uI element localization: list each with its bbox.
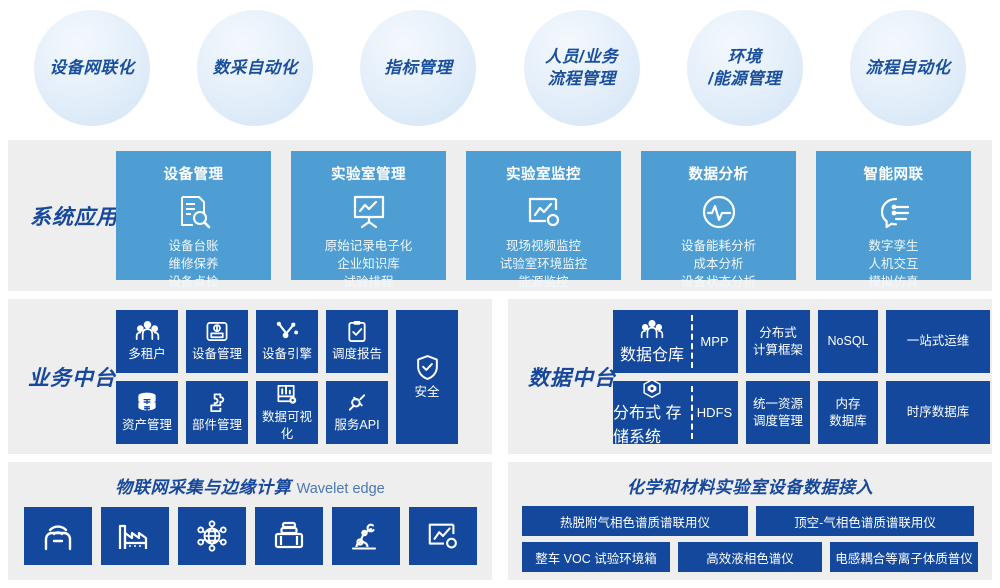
chemical-lab-tag-row: 整车 VOC 试验环境箱 高效液相色谱仪 电感耦合等离子体质普仪 — [522, 542, 978, 572]
capability-circle-label: 指标管理 — [384, 57, 452, 79]
business-tile-asset-management[interactable]: 资产管理 — [116, 381, 178, 444]
chemical-lab-tag[interactable]: 电感耦合等离子体质普仪 — [830, 542, 978, 572]
capability-circles-row: 设备网联化 数采自动化 指标管理 人员/业务 流程管理 环境 /能源管理 流程自… — [0, 0, 1000, 136]
tile-label: 一站式运维 — [907, 333, 970, 349]
monitor-analytics-icon — [426, 520, 460, 552]
tile-label: 设备管理 — [192, 346, 242, 362]
business-platform-panel: 业务中台 多租户 — [8, 299, 492, 454]
node-graph-icon — [275, 320, 300, 343]
presentation-chart-icon — [349, 193, 389, 231]
business-tile-security[interactable]: 安全 — [396, 310, 458, 444]
chemical-lab-tag-rows: 热脱附气相色谱质谱联用仪 顶空-气相色谱质谱联用仪 整车 VOC 试验环境箱 高… — [508, 506, 992, 572]
chemical-lab-tag[interactable]: 顶空-气相色谱质谱联用仪 — [756, 506, 974, 536]
card-title: 数据分析 — [689, 163, 749, 184]
iot-box-monitor-analytics[interactable] — [409, 507, 477, 565]
capability-circle-label: 人员/业务 流程管理 — [545, 46, 618, 91]
document-wrench-icon — [175, 193, 213, 231]
card-title: 实验室监控 — [506, 163, 581, 184]
iot-box-robot-arm[interactable] — [332, 507, 400, 565]
tile-label: 数据仓库 — [620, 341, 684, 365]
dashed-divider — [691, 315, 693, 368]
iot-edge-subtitle: Wavelet edge — [297, 481, 385, 497]
capability-circle[interactable]: 环境 /能源管理 — [687, 10, 803, 126]
network-globe-icon — [195, 520, 229, 552]
multi-tenant-icon — [135, 320, 160, 343]
puzzle-piece-icon — [206, 391, 229, 414]
tile-label: 安全 — [414, 384, 439, 400]
system-application-cards: 设备管理 设备台账 维修保养 设备点检 实验室管理 — [116, 151, 971, 280]
database-yuan-icon — [135, 391, 159, 414]
tile-label: 资产管理 — [122, 417, 172, 433]
business-tile-device-engine[interactable]: 设备引擎 — [256, 310, 318, 373]
tile-label: 分布式 计算框架 — [753, 325, 803, 358]
factory-icon — [117, 520, 153, 552]
system-app-card-lab-management[interactable]: 实验室管理 原始记录电子化 企业知识库 试验排程 — [291, 151, 446, 280]
business-platform-grid: 多租户 设备管理 — [116, 310, 458, 444]
card-lines: 设备台账 维修保养 设备点检 — [168, 238, 218, 291]
business-tile-service-api[interactable]: 服务API — [326, 381, 388, 444]
dashed-divider — [691, 386, 693, 439]
tile-label: 内存 数据库 — [829, 396, 867, 429]
business-platform-row-label: 业务中台 — [28, 362, 116, 392]
tile-label: 设备引擎 — [262, 346, 312, 362]
multi-tenant-icon — [640, 319, 664, 341]
system-app-card-data-analysis[interactable]: 数据分析 设备能耗分析 成本分析 设备状态分析 — [641, 151, 796, 280]
shield-check-icon — [415, 354, 440, 381]
chemical-lab-tag[interactable]: 高效液相色谱仪 — [678, 542, 822, 572]
iot-edge-title-text: 物联网采集与边缘计算 — [115, 478, 291, 497]
capability-circle-label: 流程自动化 — [865, 57, 950, 79]
architecture-diagram: 设备网联化 数采自动化 指标管理 人员/业务 流程管理 环境 /能源管理 流程自… — [0, 0, 1000, 588]
data-platform-panel: 数据中台 — [508, 299, 992, 454]
system-app-card-lab-monitoring[interactable]: 实验室监控 现场视频监控 试验室环境监控 能源监控 — [466, 151, 621, 280]
ai-head-icon — [874, 193, 914, 231]
card-title: 实验室管理 — [331, 163, 406, 184]
sensor-device-icon — [272, 520, 306, 552]
data-tile-one-stop-ops[interactable]: 一站式运维 — [886, 310, 990, 373]
chemical-lab-tag[interactable]: 热脱附气相色谱质谱联用仪 — [522, 506, 748, 536]
data-tile-nosql[interactable]: NoSQL — [818, 310, 878, 373]
iot-icon-row — [8, 507, 492, 565]
chemical-lab-tag[interactable]: 整车 VOC 试验环境箱 — [522, 542, 670, 572]
tile-label: 数据可视化 — [256, 409, 318, 442]
tile-label: 分布式 存储系统 — [613, 399, 691, 447]
chemical-lab-title: 化学和材料实验室设备数据接入 — [508, 462, 992, 498]
device-box-icon — [205, 320, 229, 343]
system-app-card-device-management[interactable]: 设备管理 设备台账 维修保养 设备点检 — [116, 151, 271, 280]
plug-connect-icon — [345, 391, 369, 414]
data-tile-distributed-computing[interactable]: 分布式 计算框架 — [746, 310, 810, 373]
tile-label: 时序数据库 — [907, 404, 970, 420]
data-tile-in-memory-db[interactable]: 内存 数据库 — [818, 381, 878, 444]
capability-circle[interactable]: 指标管理 — [360, 10, 476, 126]
capability-circle[interactable]: 流程自动化 — [850, 10, 966, 126]
tile-label: 服务API — [334, 417, 379, 433]
system-app-card-intelligent-network[interactable]: 智能网联 数字孪生 人机交互 模拟仿真 — [816, 151, 971, 280]
capability-circle-label: 环境 /能源管理 — [708, 46, 781, 91]
system-application-row-label: 系统应用 — [30, 201, 118, 231]
card-lines: 设备能耗分析 成本分析 设备状态分析 — [681, 238, 756, 291]
clipboard-check-icon — [346, 320, 368, 343]
business-tile-component-management[interactable]: 部件管理 — [186, 381, 248, 444]
data-tile-hdfs[interactable]: HDFS — [691, 381, 738, 444]
capability-circle[interactable]: 数采自动化 — [197, 10, 313, 126]
tile-label: 统一资源 调度管理 — [753, 396, 803, 429]
business-tile-device-management[interactable]: 设备管理 — [186, 310, 248, 373]
wifi-gateway-icon — [41, 520, 75, 552]
iot-box-network-globe[interactable] — [178, 507, 246, 565]
capability-circle[interactable]: 设备网联化 — [34, 10, 150, 126]
card-lines: 数字孪生 人机交互 模拟仿真 — [868, 238, 918, 291]
iot-edge-panel: 物联网采集与边缘计算 Wavelet edge — [8, 462, 492, 580]
capability-circle-label: 数采自动化 — [213, 57, 298, 79]
business-tile-data-visualization[interactable]: 数据可视化 — [256, 381, 318, 444]
iot-edge-title: 物联网采集与边缘计算 Wavelet edge — [8, 462, 492, 498]
data-tile-warehouse-mpp[interactable]: 数据仓库 MPP — [613, 310, 738, 373]
business-tile-multi-tenant[interactable]: 多租户 — [116, 310, 178, 373]
monitor-analytics-icon — [524, 193, 564, 231]
capability-circle-label: 设备网联化 — [50, 57, 135, 79]
data-tile-mpp[interactable]: MPP — [691, 310, 738, 373]
tile-label: 调度报告 — [332, 346, 382, 362]
robot-arm-icon — [349, 520, 383, 552]
iot-box-wifi-gateway[interactable] — [24, 507, 92, 565]
storage-cube-icon — [641, 378, 663, 399]
capability-circle[interactable]: 人员/业务 流程管理 — [524, 10, 640, 126]
tile-label: 多租户 — [128, 346, 166, 362]
iot-box-sensor-device[interactable] — [255, 507, 323, 565]
data-tile-timeseries-db[interactable]: 时序数据库 — [886, 381, 990, 444]
data-platform-grid: 数据仓库 MPP 分布式 计算框架 NoSQL 一站式运维 — [613, 310, 990, 444]
iot-box-factory[interactable] — [101, 507, 169, 565]
data-tile-warehouse[interactable]: 数据仓库 — [613, 310, 691, 373]
tile-label: 部件管理 — [192, 417, 242, 433]
pulse-circle-icon — [700, 193, 738, 231]
data-platform-row-label: 数据中台 — [528, 362, 616, 392]
bar-chart-gear-icon — [275, 383, 299, 406]
tile-label: NoSQL — [828, 333, 869, 349]
card-title: 智能网联 — [864, 163, 924, 184]
chemical-lab-title-text: 化学和材料实验室设备数据接入 — [627, 478, 873, 497]
data-tile-distributed-storage[interactable]: 分布式 存储系统 — [613, 381, 691, 444]
data-tile-storage-hdfs[interactable]: 分布式 存储系统 HDFS — [613, 381, 738, 444]
data-tile-unified-resource-scheduling[interactable]: 统一资源 调度管理 — [746, 381, 810, 444]
chemical-lab-tag-row: 热脱附气相色谱质谱联用仪 顶空-气相色谱质谱联用仪 — [522, 506, 978, 536]
chemical-lab-panel: 化学和材料实验室设备数据接入 热脱附气相色谱质谱联用仪 顶空-气相色谱质谱联用仪… — [508, 462, 992, 580]
card-title: 设备管理 — [164, 163, 224, 184]
system-application-panel: 系统应用 设备管理 设备台账 维修保养 设备点检 实验室管理 — [8, 140, 992, 291]
business-tile-schedule-report[interactable]: 调度报告 — [326, 310, 388, 373]
card-lines: 原始记录电子化 企业知识库 试验排程 — [325, 238, 413, 291]
card-lines: 现场视频监控 试验室环境监控 能源监控 — [500, 238, 588, 291]
